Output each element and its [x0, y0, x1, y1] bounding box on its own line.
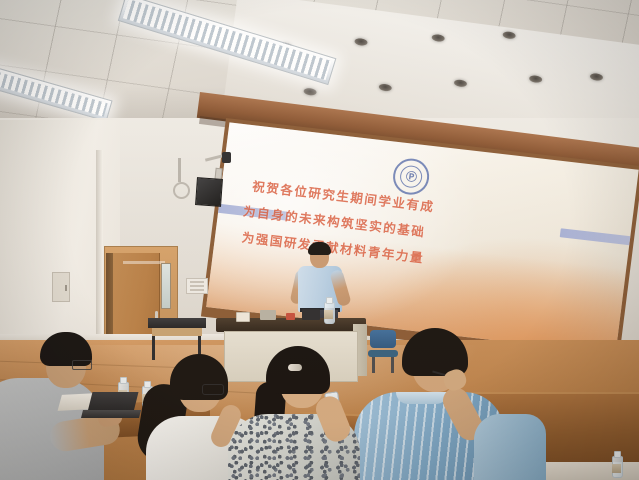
downlight-icon — [529, 75, 543, 84]
wall-access-panel — [52, 272, 70, 302]
desk-top — [148, 318, 206, 328]
audience-member-front-center — [232, 352, 356, 480]
hair-clip-icon — [288, 364, 302, 371]
lectern-item-dark — [302, 309, 320, 320]
laptop-screen — [88, 392, 139, 412]
lectern-item-red — [286, 313, 295, 320]
switch-rocker[interactable] — [190, 285, 204, 287]
security-camera-icon — [222, 152, 231, 163]
laptop-keyboard[interactable] — [81, 410, 141, 418]
water-bottle — [612, 452, 621, 478]
switch-rocker[interactable] — [190, 281, 204, 283]
glasses-icon — [72, 360, 92, 370]
downlight-icon — [590, 73, 604, 82]
lectern-item-box — [260, 310, 276, 320]
door-vision-panel — [161, 263, 171, 309]
side-desk — [148, 318, 206, 358]
panel-latch-icon — [65, 285, 67, 291]
audience-member-far-right — [500, 414, 546, 480]
wall-corner-edge — [96, 150, 103, 360]
switch-rocker[interactable] — [190, 289, 204, 291]
audience-far-shirt — [474, 414, 546, 480]
downlight-icon — [303, 87, 317, 96]
wall-speaker-icon — [195, 177, 223, 207]
laptop[interactable] — [82, 392, 140, 418]
desk-leg — [152, 336, 155, 360]
downlight-icon — [378, 83, 392, 92]
door-highlight — [123, 261, 165, 264]
bottle-label — [324, 310, 333, 319]
projector-mount-bracket-icon — [178, 158, 181, 182]
water-bottle — [324, 298, 333, 324]
audience-right-collar — [396, 392, 448, 404]
presenter-hair — [308, 242, 331, 255]
bottle-cap — [326, 297, 333, 304]
lecture-hall-photo: Ⓟ 祝贺各位研究生期间学业有成 为自身的未来构筑坚实的基础 为强国研发贡献材料青… — [0, 0, 639, 480]
bottle-cap — [614, 451, 621, 458]
downlight-icon — [431, 34, 445, 43]
lectern-item-cup — [236, 312, 250, 322]
glasses-icon — [202, 384, 224, 395]
emblem-mark: Ⓟ — [405, 168, 417, 185]
downlight-icon — [454, 79, 468, 88]
bottle-label — [612, 464, 621, 473]
light-switch-panel[interactable] — [186, 278, 208, 294]
downlight-icon — [502, 31, 516, 40]
downlight-icon — [354, 38, 368, 47]
desk-shelf — [152, 328, 202, 336]
